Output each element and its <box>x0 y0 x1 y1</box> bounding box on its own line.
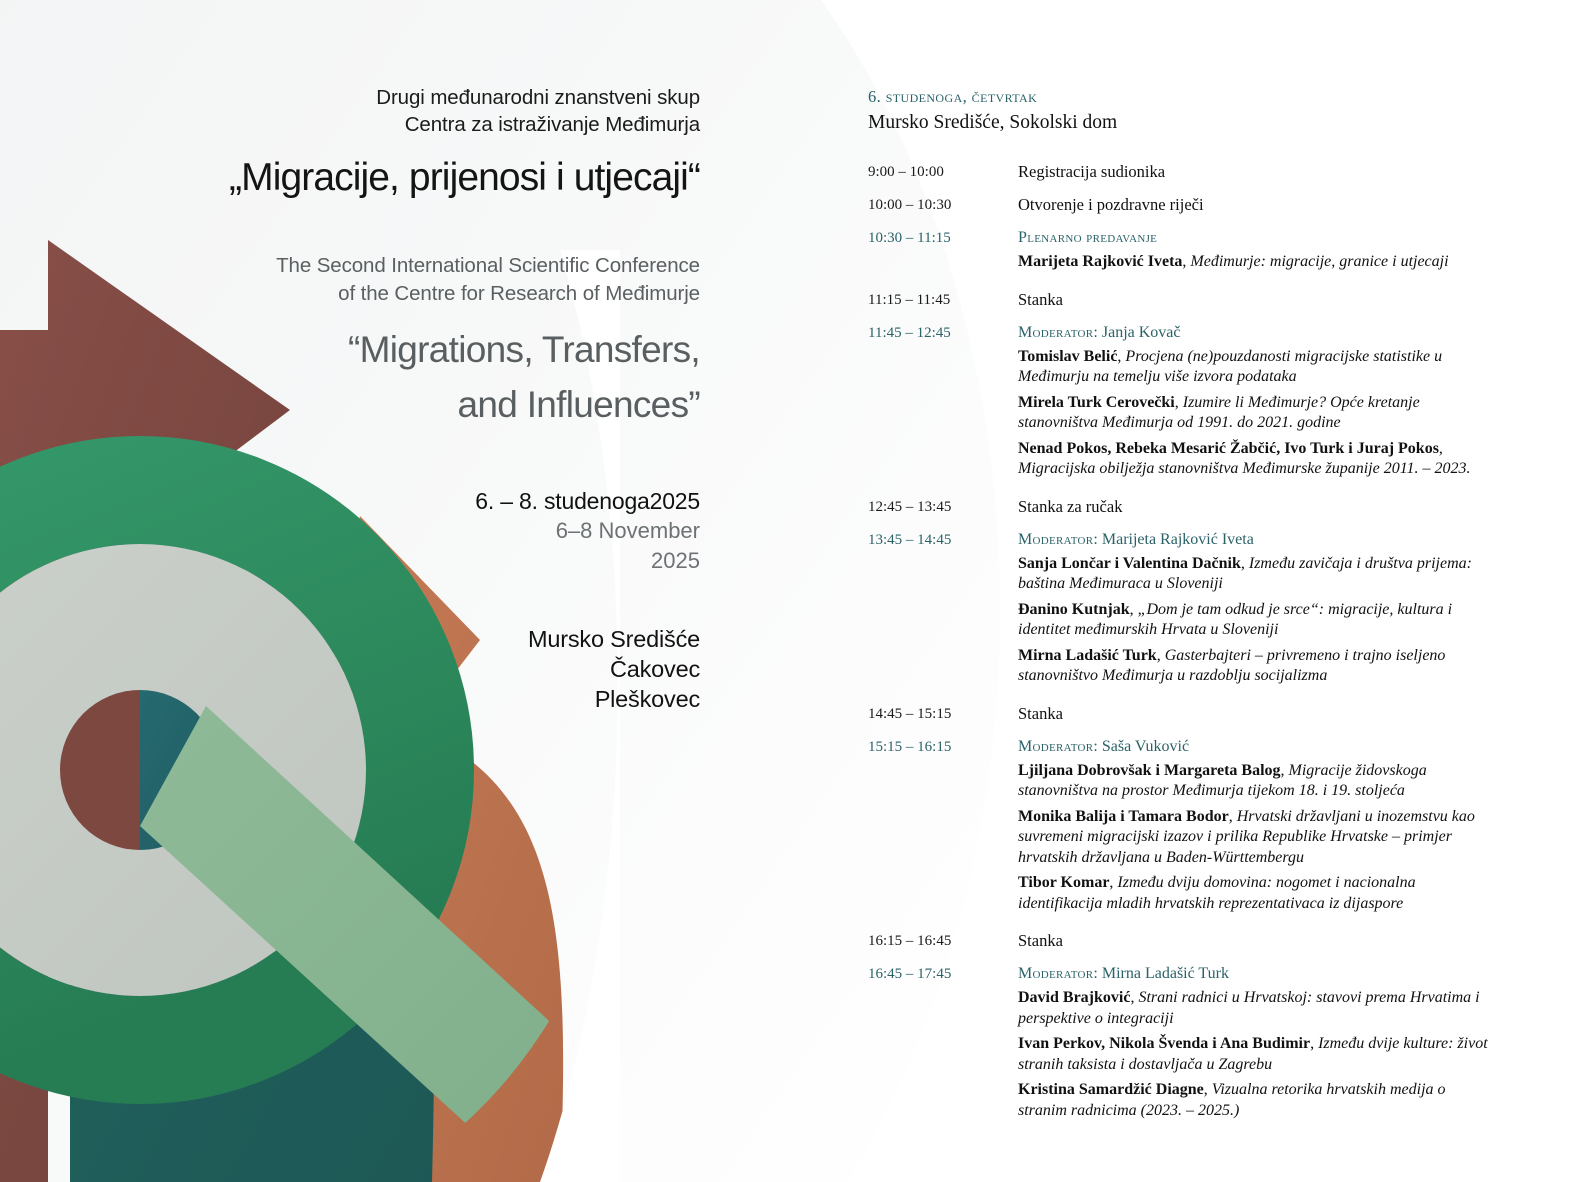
paper-authors: Nenad Pokos, Rebeka Mesarić Žabčić, Ivo … <box>1018 440 1439 457</box>
session-separator: : <box>1093 324 1101 341</box>
date-hr: 6. – 8. studenoga2025 <box>120 486 700 516</box>
schedule-row-text: Stanka <box>1018 289 1488 311</box>
paper-entry: Marijeta Rajković Iveta, Međimurje: migr… <box>1018 252 1488 273</box>
schedule-row: 11:15 – 11:45Stanka <box>868 289 1488 311</box>
schedule-row: 16:15 – 16:45Stanka <box>868 930 1488 952</box>
schedule-row-text: Stanka za ručak <box>1018 496 1488 518</box>
paper-separator: , <box>1130 601 1138 618</box>
kicker-en-line1: The Second International Scientific Conf… <box>120 252 700 280</box>
poster-page: Drugi međunarodni znanstveni skup Centra… <box>0 0 1595 1182</box>
paper-entry: Kristina Samardžić Diagne, Vizualna reto… <box>1018 1080 1488 1121</box>
session-header: Moderator: Janja Kovač <box>1018 322 1488 343</box>
paper-authors: Tomislav Belić <box>1018 348 1117 365</box>
schedule-row-time: 12:45 – 13:45 <box>868 496 1018 518</box>
session-person: Janja Kovač <box>1102 324 1181 341</box>
paper-entry: Mirela Turk Cerovečki, Izumire li Međimu… <box>1018 393 1488 434</box>
paper-separator: , <box>1204 1081 1212 1098</box>
paper-entry: Đanino Kutnjak, „Dom je tam odkud je src… <box>1018 600 1488 641</box>
kicker-en-line2: of the Centre for Research of Međimurje <box>120 280 700 308</box>
session-separator: : <box>1093 965 1101 982</box>
session-separator: : <box>1093 531 1101 548</box>
date-en: 6–8 November 2025 <box>120 516 700 576</box>
session-label: Plenarno predavanje <box>1018 229 1157 246</box>
paper-authors: Mirela Turk Cerovečki <box>1018 394 1175 411</box>
schedule-row-time: 13:45 – 14:45 <box>868 529 1018 551</box>
places-list: Mursko Središće Čakovec Pleškovec <box>120 624 700 714</box>
paper-entry: Ljiljana Dobrovšak i Margareta Balog, Mi… <box>1018 761 1488 802</box>
paper-authors: Tibor Komar <box>1018 874 1109 891</box>
schedule-row-text: Registracija sudionika <box>1018 161 1488 183</box>
schedule-row: 11:45 – 12:45Moderator: Janja KovačTomis… <box>868 322 1488 485</box>
schedule-row-time: 11:15 – 11:45 <box>868 289 1018 311</box>
session-label: Moderator <box>1018 965 1093 982</box>
paper-authors: Marijeta Rajković Iveta <box>1018 253 1182 270</box>
schedule-row: 12:45 – 13:45Stanka za ručak <box>868 496 1488 518</box>
paper-authors: David Brajković <box>1018 989 1130 1006</box>
schedule-row: 15:15 – 16:15Moderator: Saša VukovićLjil… <box>868 736 1488 920</box>
paper-list: Ljiljana Dobrovšak i Margareta Balog, Mi… <box>1018 761 1488 915</box>
paper-authors: Monika Balija i Tamara Bodor <box>1018 808 1229 825</box>
date-en-line2: 2025 <box>120 546 700 576</box>
paper-entry: Tomislav Belić, Procjena (ne)pouzdanosti… <box>1018 347 1488 388</box>
session-header: Moderator: Saša Vuković <box>1018 736 1488 757</box>
paper-separator: , <box>1175 394 1183 411</box>
session-person: Mirna Ladašić Turk <box>1102 965 1229 982</box>
paper-list: Tomislav Belić, Procjena (ne)pouzdanosti… <box>1018 347 1488 480</box>
paper-list: Marijeta Rajković Iveta, Međimurje: migr… <box>1018 252 1488 273</box>
kicker-hr-line2: Centra za istraživanje Međimurja <box>120 111 700 138</box>
schedule-row-body: Stanka <box>1018 703 1488 725</box>
session-person: Saša Vuković <box>1102 738 1189 755</box>
schedule-row: 14:45 – 15:15Stanka <box>868 703 1488 725</box>
paper-authors: Kristina Samardžić Diagne <box>1018 1081 1204 1098</box>
title-hr: „Migracije, prijenosi i utjecaji“ <box>120 154 700 202</box>
schedule-row-time: 10:30 – 11:15 <box>868 227 1018 249</box>
paper-authors: Ljiljana Dobrovšak i Margareta Balog <box>1018 762 1281 779</box>
schedule-row-text: Otvorenje i pozdravne riječi <box>1018 194 1488 216</box>
paper-title: Međimurje: migracije, granice i utjecaji <box>1190 253 1448 270</box>
schedule-row-body: Moderator: Marijeta Rajković IvetaSanja … <box>1018 529 1488 692</box>
schedule-row-body: Moderator: Saša VukovićLjiljana Dobrovša… <box>1018 736 1488 920</box>
paper-separator: , <box>1229 808 1237 825</box>
program-day-label: 6. studenoga, četvrtak <box>868 86 1488 108</box>
paper-entry: Nenad Pokos, Rebeka Mesarić Žabčić, Ivo … <box>1018 439 1488 480</box>
paper-authors: Ivan Perkov, Nikola Švenda i Ana Budimir <box>1018 1035 1310 1052</box>
schedule-row-text: Stanka <box>1018 930 1488 952</box>
paper-separator: , <box>1439 440 1443 457</box>
session-label: Moderator <box>1018 531 1093 548</box>
date-en-line1: 6–8 November <box>120 516 700 546</box>
paper-separator: , <box>1281 762 1289 779</box>
schedule-row-time: 10:00 – 10:30 <box>868 194 1018 216</box>
paper-separator: , <box>1241 555 1249 572</box>
program-schedule: 9:00 – 10:00Registracija sudionika10:00 … <box>868 161 1488 1126</box>
kicker-hr-line1: Drugi međunarodni znanstveni skup <box>120 84 700 111</box>
schedule-row: 9:00 – 10:00Registracija sudionika <box>868 161 1488 183</box>
schedule-row-body: Moderator: Janja KovačTomislav Belić, Pr… <box>1018 322 1488 485</box>
program-column: 6. studenoga, četvrtak Mursko Središće, … <box>868 86 1488 1137</box>
paper-entry: David Brajković, Strani radnici u Hrvats… <box>1018 988 1488 1029</box>
schedule-row-body: Stanka za ručak <box>1018 496 1488 518</box>
paper-authors: Sanja Lončar i Valentina Dačnik <box>1018 555 1241 572</box>
paper-title: Migracijska obilježja stanovništva Međim… <box>1018 460 1471 477</box>
poster-text-column: Drugi međunarodni znanstveni skup Centra… <box>120 84 700 714</box>
schedule-row-body: Registracija sudionika <box>1018 161 1488 183</box>
title-en-line1: “Migrations, Transfers, <box>120 322 700 377</box>
paper-authors: Đanino Kutnjak <box>1018 601 1130 618</box>
schedule-row-time: 14:45 – 15:15 <box>868 703 1018 725</box>
place-item: Mursko Središće <box>120 624 700 654</box>
session-header: Moderator: Marijeta Rajković Iveta <box>1018 529 1488 550</box>
schedule-row: 10:30 – 11:15Plenarno predavanjeMarijeta… <box>868 227 1488 278</box>
title-en: “Migrations, Transfers, and Influences” <box>120 322 700 432</box>
schedule-row-time: 9:00 – 10:00 <box>868 161 1018 183</box>
paper-authors: Mirna Ladašić Turk <box>1018 647 1157 664</box>
schedule-row-text: Stanka <box>1018 703 1488 725</box>
session-separator: : <box>1093 738 1101 755</box>
place-item: Čakovec <box>120 654 700 684</box>
session-header: Moderator: Mirna Ladašić Turk <box>1018 963 1488 984</box>
paper-entry: Ivan Perkov, Nikola Švenda i Ana Budimir… <box>1018 1034 1488 1075</box>
schedule-row: 16:45 – 17:45Moderator: Mirna Ladašić Tu… <box>868 963 1488 1126</box>
paper-entry: Tibor Komar, Između dviju domovina: nogo… <box>1018 873 1488 914</box>
paper-separator: , <box>1310 1035 1318 1052</box>
schedule-row-time: 15:15 – 16:15 <box>868 736 1018 758</box>
schedule-row-body: Stanka <box>1018 930 1488 952</box>
schedule-row-time: 16:15 – 16:45 <box>868 930 1018 952</box>
place-item: Pleškovec <box>120 684 700 714</box>
paper-entry: Sanja Lončar i Valentina Dačnik, Između … <box>1018 554 1488 595</box>
schedule-row-time: 16:45 – 17:45 <box>868 963 1018 985</box>
schedule-row-time: 11:45 – 12:45 <box>868 322 1018 344</box>
title-en-line2: and Influences” <box>120 377 700 432</box>
schedule-row: 13:45 – 14:45Moderator: Marijeta Rajkovi… <box>868 529 1488 692</box>
paper-list: Sanja Lončar i Valentina Dačnik, Između … <box>1018 554 1488 687</box>
session-header: Plenarno predavanje <box>1018 227 1488 248</box>
kicker-hr: Drugi međunarodni znanstveni skup Centra… <box>120 84 700 138</box>
schedule-row-body: Plenarno predavanjeMarijeta Rajković Ive… <box>1018 227 1488 278</box>
schedule-row-body: Stanka <box>1018 289 1488 311</box>
paper-entry: Monika Balija i Tamara Bodor, Hrvatski d… <box>1018 807 1488 869</box>
session-person: Marijeta Rajković Iveta <box>1102 531 1254 548</box>
program-day-venue: Mursko Središće, Sokolski dom <box>868 110 1488 136</box>
paper-entry: Mirna Ladašić Turk, Gasterbajteri – priv… <box>1018 646 1488 687</box>
session-label: Moderator <box>1018 324 1093 341</box>
schedule-row-body: Moderator: Mirna Ladašić TurkDavid Brajk… <box>1018 963 1488 1126</box>
session-label: Moderator <box>1018 738 1093 755</box>
schedule-row: 10:00 – 10:30Otvorenje i pozdravne riječ… <box>868 194 1488 216</box>
schedule-row-body: Otvorenje i pozdravne riječi <box>1018 194 1488 216</box>
kicker-en: The Second International Scientific Conf… <box>120 252 700 308</box>
paper-list: David Brajković, Strani radnici u Hrvats… <box>1018 988 1488 1121</box>
paper-separator: , <box>1157 647 1165 664</box>
